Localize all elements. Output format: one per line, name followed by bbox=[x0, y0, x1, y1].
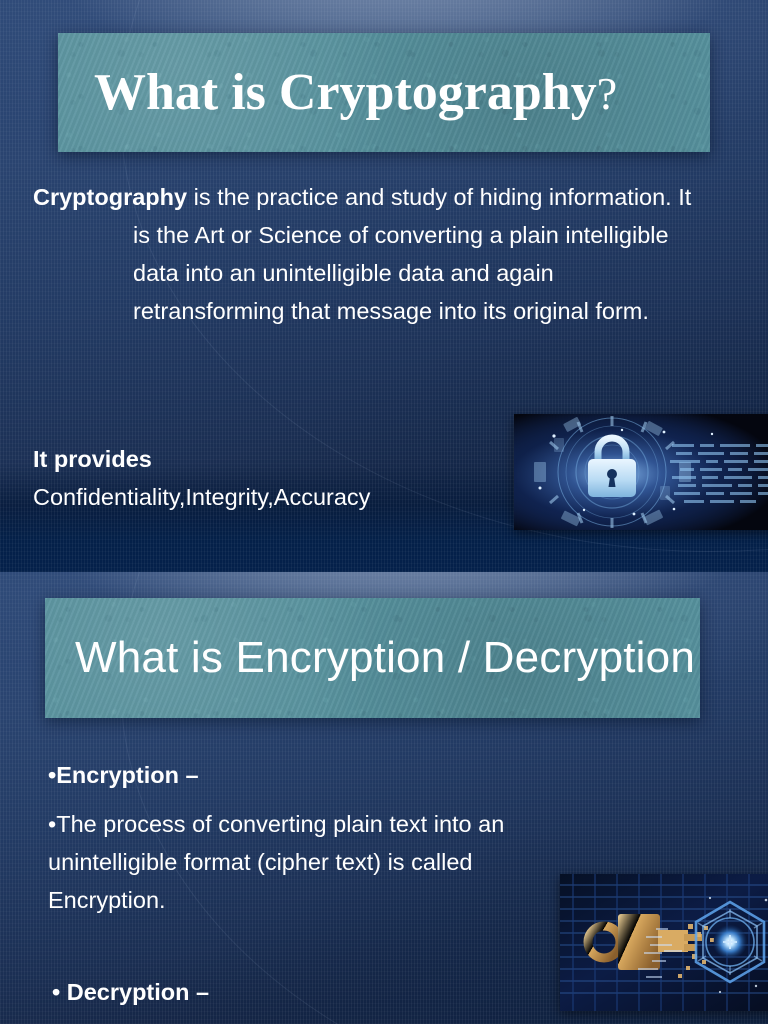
slide-1-provides-heading: It provides bbox=[33, 440, 370, 478]
slide-2-title: What is Encryption / Decryption bbox=[75, 636, 695, 680]
slide-1-title: What is Cryptography? bbox=[94, 67, 617, 119]
padlock-circuit-image: Glowing padlock at the centre of concent… bbox=[514, 414, 768, 530]
slide-1-title-question-mark: ? bbox=[597, 68, 617, 119]
slide-2-encryption-body: •The process of converting plain text in… bbox=[48, 805, 568, 919]
slide-1-title-banner: What is Cryptography? bbox=[58, 33, 710, 152]
slide-2-encryption-heading: •Encryption – bbox=[48, 758, 199, 792]
slide-2-decryption-heading: • Decryption – bbox=[52, 975, 209, 1009]
slide-2-title-banner: What is Encryption / Decryption bbox=[45, 598, 700, 718]
slide-1-title-text: What is Cryptography bbox=[94, 64, 597, 121]
slide-1-definition-paragraph: Cryptography is the practice and study o… bbox=[33, 178, 693, 330]
slide-deck: What is Cryptography? Cryptography is th… bbox=[0, 0, 768, 1024]
slide-1-provides-block: It provides Confidentiality,Integrity,Ac… bbox=[33, 440, 370, 516]
slide-1-paragraph-rest: is the practice and study of hiding info… bbox=[133, 184, 691, 324]
slide-1-provides-values: Confidentiality,Integrity,Accuracy bbox=[33, 478, 370, 516]
slide-1-paragraph-lead-word: Cryptography bbox=[33, 184, 187, 210]
key-and-lock-image: Golden digital key aimed at a glowing bl… bbox=[560, 874, 768, 1011]
